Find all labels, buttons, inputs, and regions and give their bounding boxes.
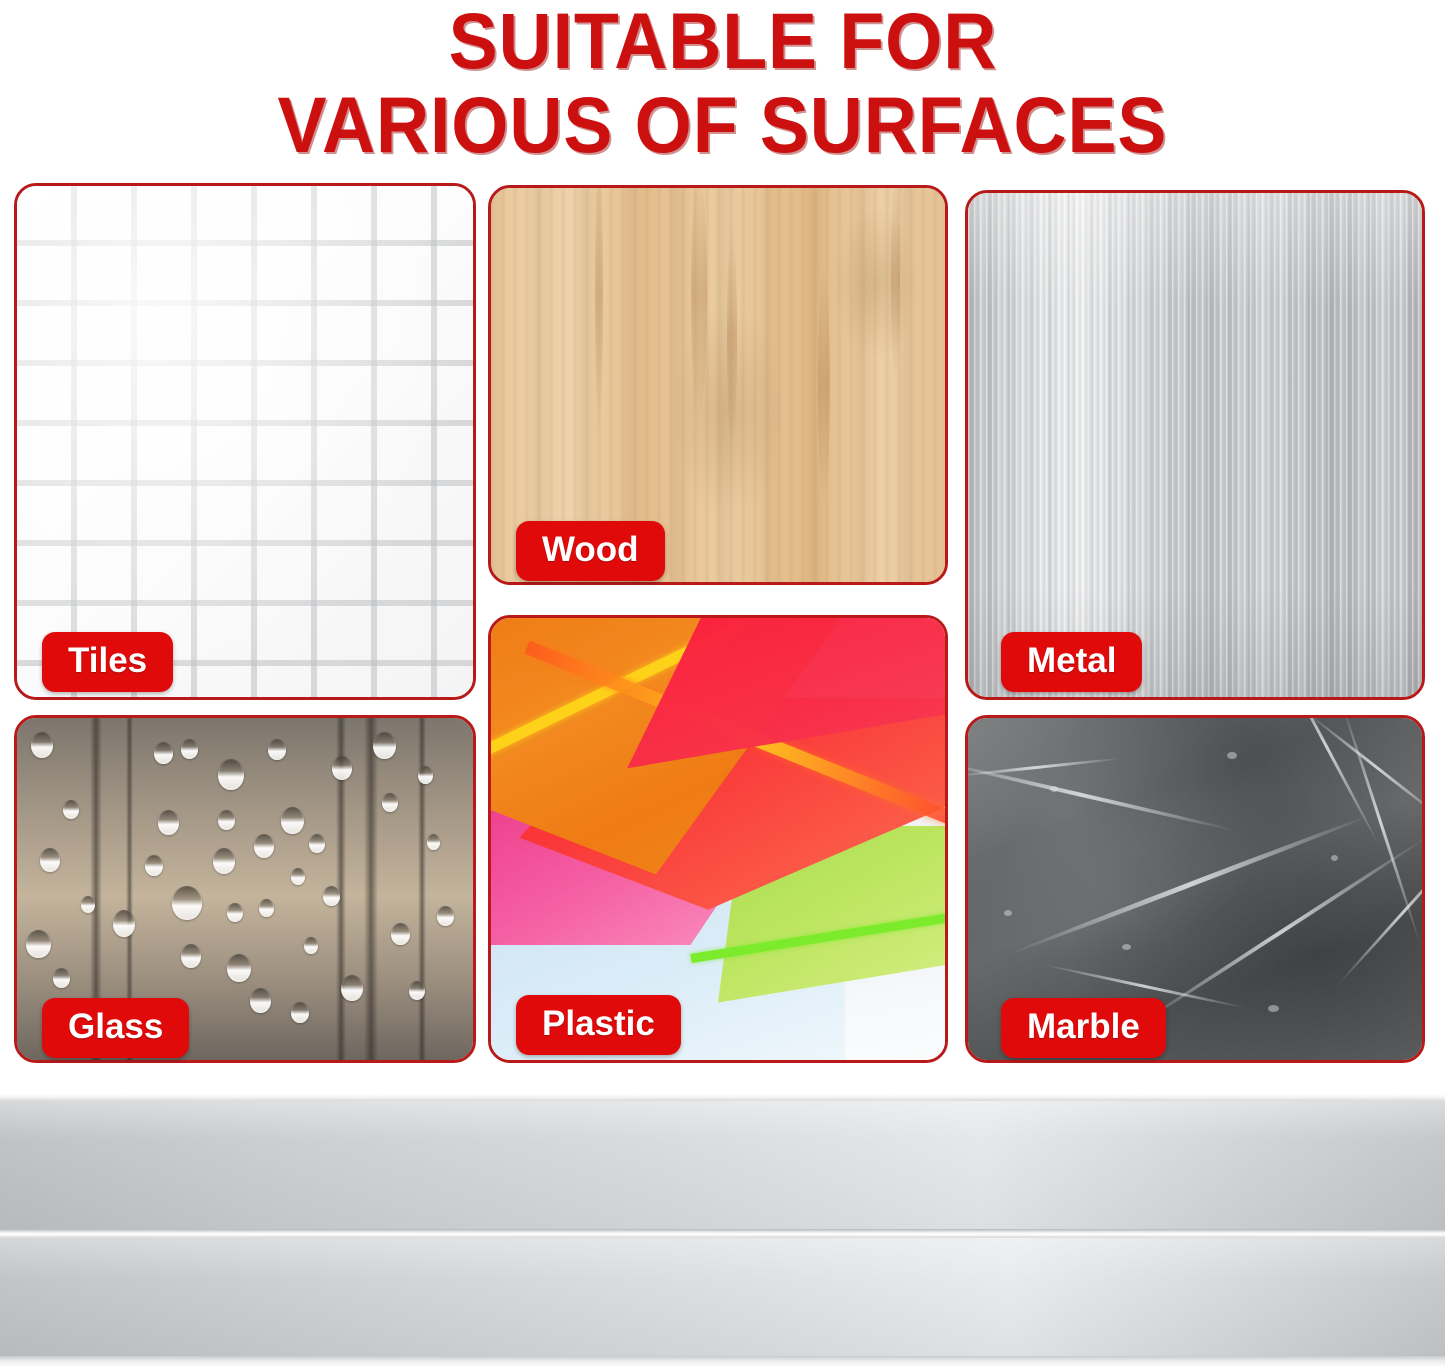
- marble-speck: [1004, 910, 1012, 916]
- water-droplet: [391, 923, 410, 945]
- water-droplet: [81, 896, 95, 913]
- water-droplet: [227, 903, 243, 922]
- water-droplet: [31, 732, 53, 758]
- water-droplet: [113, 910, 135, 937]
- wood-grain-line: [818, 267, 830, 503]
- bar-bottom-edge: [0, 1356, 1445, 1367]
- marble-speck: [1268, 1005, 1279, 1012]
- water-droplet: [154, 742, 173, 764]
- surface-panel-tiles: [14, 183, 476, 700]
- surface-panel-metal: [965, 190, 1425, 700]
- wood-grain-line: [595, 185, 603, 432]
- water-droplet: [218, 810, 235, 830]
- water-droplet: [172, 886, 202, 920]
- water-droplet: [373, 732, 396, 759]
- water-droplet: [291, 1002, 309, 1023]
- water-droplet: [53, 968, 70, 988]
- water-droplet: [227, 954, 251, 982]
- water-droplet: [181, 944, 201, 968]
- surface-label-glass: Glass: [42, 998, 189, 1058]
- water-droplet: [268, 739, 286, 760]
- marble-speck: [1050, 786, 1058, 792]
- marble-vein: [1336, 836, 1425, 986]
- tiles-texture: [17, 186, 473, 697]
- metal-texture: [968, 193, 1422, 697]
- water-droplet: [281, 807, 304, 834]
- marble-speck: [1331, 855, 1338, 861]
- bar-lower-panel: [0, 1238, 1445, 1356]
- bar-upper-panel: [0, 1101, 1445, 1229]
- wood-knot: [836, 208, 916, 358]
- water-droplet: [427, 834, 440, 850]
- surface-label-marble: Marble: [1001, 998, 1166, 1058]
- water-droplet: [26, 930, 51, 958]
- surface-panel-grid: Tiles Wood Metal: [0, 0, 1445, 1075]
- water-droplet: [437, 906, 454, 926]
- water-droplet: [382, 793, 398, 812]
- water-droplet: [63, 800, 79, 819]
- water-droplet: [181, 739, 198, 759]
- water-droplet: [291, 868, 305, 885]
- water-droplet: [40, 848, 60, 872]
- water-droplet: [304, 937, 318, 954]
- surface-label-tiles: Tiles: [42, 632, 173, 692]
- bar-white-gap: [0, 1075, 1445, 1094]
- water-droplet: [341, 975, 363, 1001]
- water-droplet: [418, 766, 433, 784]
- marble-vein: [1007, 812, 1373, 957]
- plastic-texture: [491, 618, 945, 1060]
- water-droplet: [145, 855, 163, 876]
- surface-label-plastic: Plastic: [516, 995, 681, 1055]
- bottom-product-bar: [0, 1075, 1445, 1367]
- glass-streak: [364, 718, 378, 1060]
- water-droplet: [250, 988, 271, 1013]
- marble-speck: [1227, 752, 1237, 759]
- water-droplet: [218, 759, 244, 790]
- water-droplet: [259, 899, 274, 917]
- marble-vein: [1132, 834, 1425, 1030]
- bar-divider-line: [0, 1229, 1445, 1238]
- marble-speck: [1122, 944, 1131, 950]
- bar-top-edge: [0, 1094, 1445, 1101]
- water-droplet: [309, 834, 325, 853]
- water-droplet: [254, 834, 274, 858]
- water-droplet: [213, 848, 235, 874]
- wood-knot: [673, 306, 783, 516]
- water-droplet: [158, 810, 179, 835]
- surface-label-metal: Metal: [1001, 632, 1142, 692]
- water-droplet: [332, 756, 352, 780]
- surface-label-wood: Wood: [516, 521, 665, 581]
- water-droplet: [323, 886, 340, 906]
